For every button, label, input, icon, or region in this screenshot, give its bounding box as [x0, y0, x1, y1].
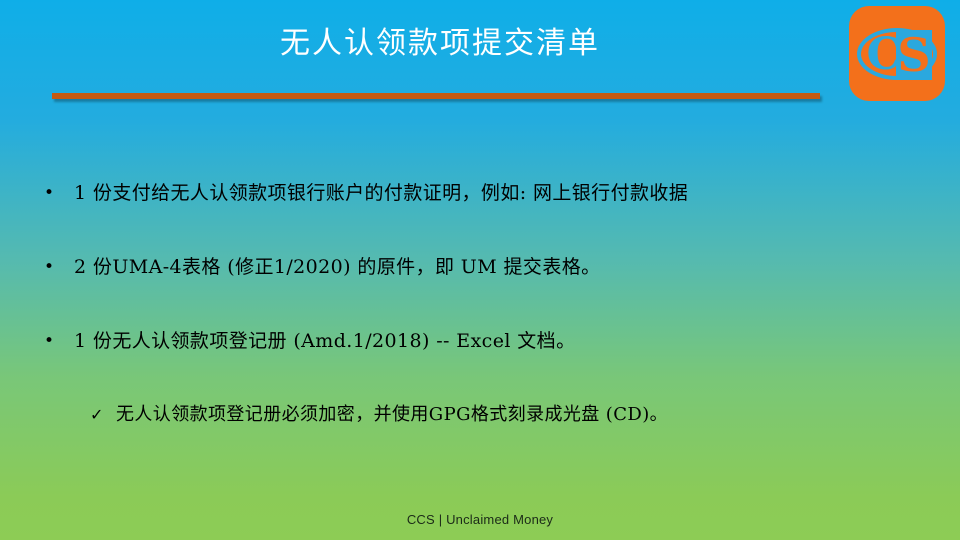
slide-canvas: 无人认领款项提交清单 C S • 1 份支付给无人认领款项银行账户的付款证明，例…	[0, 0, 960, 540]
checkmark-icon: ✓	[86, 400, 116, 430]
submission-checklist: • 1 份支付给无人认领款项银行账户的付款证明，例如: 网上银行付款收据 • 2…	[40, 178, 910, 430]
sub-list-item: ✓ 无人认领款项登记册必须加密，并使用GPG格式刻录成光盘 (CD)。	[40, 400, 910, 430]
list-item-label: 2 份UMA-4表格 (修正1/2020) 的原件，即 UM 提交表格。	[74, 252, 910, 282]
bullet-dot-icon: •	[40, 252, 74, 282]
bullet-dot-icon: •	[40, 326, 74, 356]
page-title: 无人认领款项提交清单	[60, 26, 820, 62]
list-item: • 1 份无人认领款项登记册 (Amd.1/2018) -- Excel 文档。	[40, 326, 910, 356]
list-item: • 1 份支付给无人认领款项银行账户的付款证明，例如: 网上银行付款收据	[40, 178, 910, 208]
slide-footer: CCS | Unclaimed Money	[0, 512, 960, 527]
bullet-dot-icon: •	[40, 178, 74, 208]
logo-letter-s: S	[895, 29, 933, 81]
sub-list-item-label: 无人认领款项登记册必须加密，并使用GPG格式刻录成光盘 (CD)。	[116, 400, 910, 430]
list-item-label: 1 份无人认领款项登记册 (Amd.1/2018) -- Excel 文档。	[74, 326, 910, 356]
title-divider-rule	[52, 93, 820, 99]
ccs-logo: C S	[849, 6, 945, 101]
list-item-label: 1 份支付给无人认领款项银行账户的付款证明，例如: 网上银行付款收据	[74, 178, 910, 208]
list-item: • 2 份UMA-4表格 (修正1/2020) 的原件，即 UM 提交表格。	[40, 252, 910, 282]
